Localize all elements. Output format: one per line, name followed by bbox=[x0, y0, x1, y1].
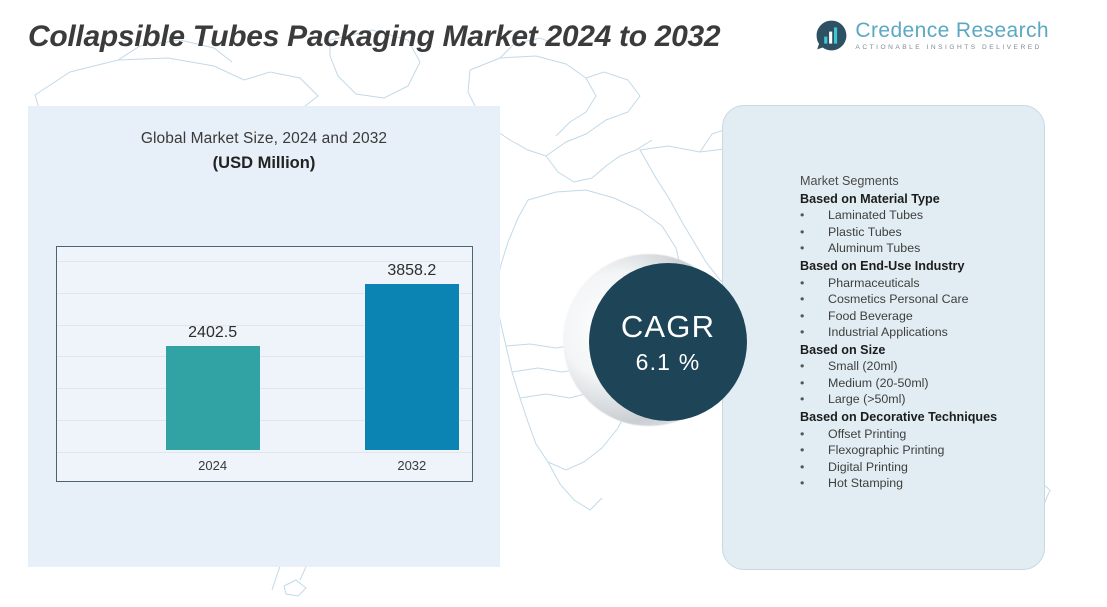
segment-list-item: •Flexographic Printing bbox=[800, 442, 1050, 459]
segment-item-label: Cosmetics Personal Care bbox=[828, 291, 968, 308]
segment-item-label: Plastic Tubes bbox=[828, 224, 902, 241]
brand-text-wrap: Credence Research Actionable Insights De… bbox=[855, 20, 1049, 51]
bar-chart: 2402.520243858.22032 bbox=[56, 246, 473, 482]
segment-list-item: •Food Beverage bbox=[800, 308, 1050, 325]
segment-list-item: •Plastic Tubes bbox=[800, 224, 1050, 241]
segment-item-label: Small (20ml) bbox=[828, 358, 898, 375]
cagr-label: CAGR bbox=[621, 311, 715, 342]
bullet-icon: • bbox=[800, 459, 828, 476]
segment-list-item: •Hot Stamping bbox=[800, 475, 1050, 492]
segment-list-item: •Aluminum Tubes bbox=[800, 240, 1050, 257]
chart-gridline bbox=[57, 452, 472, 453]
page-title: Collapsible Tubes Packaging Market 2024 … bbox=[28, 18, 828, 56]
segment-item-label: Food Beverage bbox=[828, 308, 913, 325]
infographic-canvas: Collapsible Tubes Packaging Market 2024 … bbox=[0, 0, 1107, 607]
bullet-icon: • bbox=[800, 426, 828, 443]
segment-item-label: Large (>50ml) bbox=[828, 391, 905, 408]
cagr-circle: CAGR 6.1 % bbox=[589, 263, 747, 421]
chart-heading-line2: (USD Million) bbox=[28, 154, 500, 173]
segment-item-label: Hot Stamping bbox=[828, 475, 903, 492]
bullet-icon: • bbox=[800, 291, 828, 308]
bar-2032 bbox=[365, 284, 459, 450]
segment-list-item: •Small (20ml) bbox=[800, 358, 1050, 375]
segment-list-item: •Large (>50ml) bbox=[800, 391, 1050, 408]
bullet-icon: • bbox=[800, 375, 828, 392]
segments-groups: Based on Material Type•Laminated Tubes•P… bbox=[800, 191, 1050, 492]
credence-logo-icon bbox=[815, 19, 848, 52]
bar-2024 bbox=[166, 346, 260, 450]
bullet-icon: • bbox=[800, 442, 828, 459]
cagr-badge: CAGR 6.1 % bbox=[560, 248, 760, 448]
segment-group-heading: Based on Material Type bbox=[800, 191, 1050, 208]
bar-category-label-2024: 2024 bbox=[163, 458, 263, 473]
segment-group-heading: Based on End-Use Industry bbox=[800, 258, 1050, 275]
bar-category-label-2032: 2032 bbox=[362, 458, 462, 473]
bullet-icon: • bbox=[800, 475, 828, 492]
bullet-icon: • bbox=[800, 308, 828, 325]
bar-value-label-2024: 2402.5 bbox=[153, 324, 273, 342]
bullet-icon: • bbox=[800, 207, 828, 224]
segment-list-item: •Industrial Applications bbox=[800, 324, 1050, 341]
cagr-value: 6.1 % bbox=[636, 351, 701, 374]
segment-list-item: •Medium (20-50ml) bbox=[800, 375, 1050, 392]
segment-item-label: Industrial Applications bbox=[828, 324, 948, 341]
segment-list-item: •Cosmetics Personal Care bbox=[800, 291, 1050, 308]
segment-list-item: •Offset Printing bbox=[800, 426, 1050, 443]
bullet-icon: • bbox=[800, 224, 828, 241]
brand-name: Credence Research bbox=[855, 20, 1049, 42]
segment-list-item: •Laminated Tubes bbox=[800, 207, 1050, 224]
segment-item-label: Aluminum Tubes bbox=[828, 240, 920, 257]
bullet-icon: • bbox=[800, 324, 828, 341]
bullet-icon: • bbox=[800, 275, 828, 292]
segment-item-label: Flexographic Printing bbox=[828, 442, 944, 459]
bullet-icon: • bbox=[800, 240, 828, 257]
bullet-icon: • bbox=[800, 358, 828, 375]
chart-heading-line1: Global Market Size, 2024 and 2032 bbox=[28, 130, 500, 148]
segment-list-item: •Digital Printing bbox=[800, 459, 1050, 476]
segment-item-label: Medium (20-50ml) bbox=[828, 375, 929, 392]
segment-item-label: Digital Printing bbox=[828, 459, 908, 476]
brand-logo: Credence Research Actionable Insights De… bbox=[815, 19, 1049, 52]
segment-list-item: •Pharmaceuticals bbox=[800, 275, 1050, 292]
brand-tagline: Actionable Insights Delivered bbox=[855, 44, 1049, 51]
chart-heading: Global Market Size, 2024 and 2032 (USD M… bbox=[28, 130, 500, 173]
segment-item-label: Laminated Tubes bbox=[828, 207, 923, 224]
segment-item-label: Pharmaceuticals bbox=[828, 275, 920, 292]
segment-item-label: Offset Printing bbox=[828, 426, 906, 443]
segment-group-heading: Based on Decorative Techniques bbox=[800, 409, 1050, 426]
segment-group-heading: Based on Size bbox=[800, 342, 1050, 359]
market-segments-list: Market Segments Based on Material Type•L… bbox=[800, 173, 1050, 492]
segments-caption: Market Segments bbox=[800, 173, 1050, 190]
bar-value-label-2032: 3858.2 bbox=[352, 262, 472, 280]
bullet-icon: • bbox=[800, 391, 828, 408]
